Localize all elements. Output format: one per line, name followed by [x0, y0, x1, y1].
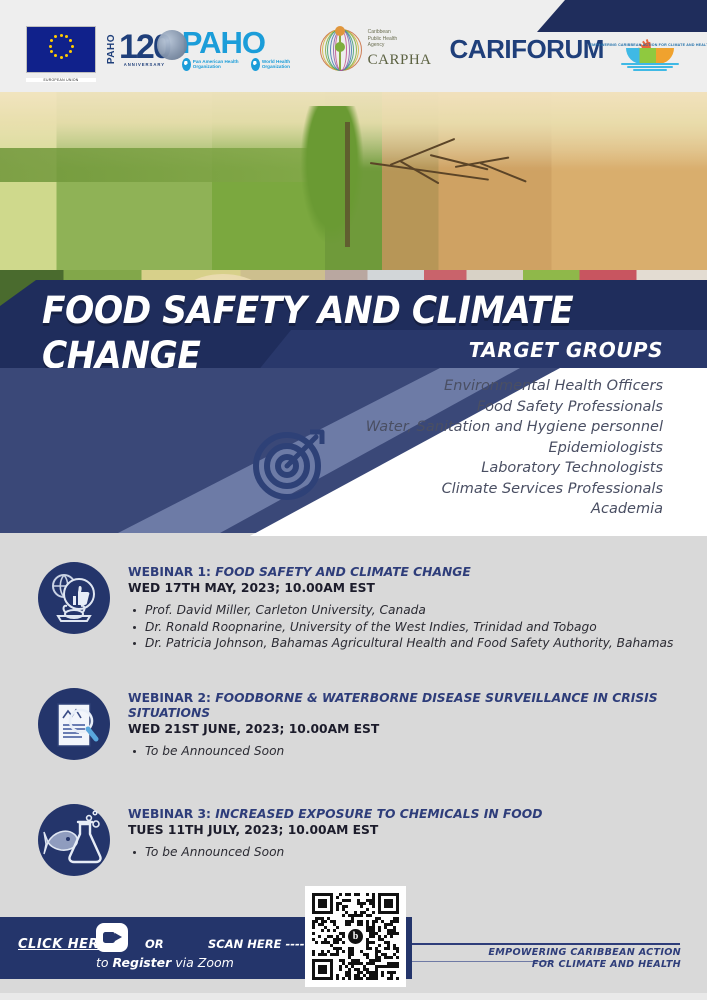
- webinar-3-speakers: To be Announced Soon: [128, 844, 678, 861]
- paho-org-text: Pan American Health Organization: [193, 59, 245, 70]
- webinar-3-label: WEBINAR 3:: [128, 807, 211, 821]
- water-waves-icon: [621, 63, 679, 73]
- hero-hedge: [0, 148, 330, 182]
- logo-carpha: Caribbean Public Health Agency CARPHA: [318, 26, 432, 72]
- target-groups-heading: TARGET GROUPS: [469, 338, 663, 362]
- footer-or-label: OR: [145, 937, 164, 951]
- paho-120-word: PAHO: [106, 34, 117, 64]
- logo-paho: PAHO Pan American Health Organization Wo…: [182, 28, 302, 71]
- document-magnifier-icon: [38, 688, 110, 760]
- footer: CLICK HERE OR SCAN HERE ----> to Registe…: [0, 905, 707, 1000]
- carpha-wordmark: CARPHA: [368, 52, 432, 69]
- footer-tagline: EMPOWERING CARIBBEAN ACTION FOR CLIMATE …: [488, 947, 681, 970]
- hero-landscape-image: [0, 92, 707, 270]
- webinar-1-date: WED 17TH MAY, 2023; 10.00AM EST: [128, 581, 678, 595]
- paho-seal-icon: [182, 58, 191, 71]
- logo-cariforum: CARIFORUM: [450, 34, 604, 65]
- globe-thumbsup-food-icon: [38, 562, 110, 634]
- webinar-3-title: INCREASED EXPOSURE TO CHEMICALS IN FOOD: [211, 807, 542, 821]
- tagline-line-2: FOR CLIMATE AND HEALTH: [488, 959, 681, 971]
- footer-divider-top: [412, 943, 680, 945]
- list-item: Food Safety Professionals: [233, 397, 663, 418]
- carpha-globe-icon: [318, 26, 364, 72]
- list-item: Prof. David Miller, Carleton University,…: [145, 602, 678, 619]
- list-item: Dr. Patricia Johnson, Bahamas Agricultur…: [145, 635, 678, 652]
- list-item: Water, Sanitation and Hygiene personnel: [233, 417, 663, 438]
- tagline-line-1: EMPOWERING CARIBBEAN ACTION: [488, 947, 681, 959]
- target-groups-section: TARGET GROUPS Environmental Health Offic…: [0, 330, 707, 545]
- ecach-caption: EMPOWERING CARIBBEAN ACTION FOR CLIMATE …: [590, 43, 707, 47]
- fish-flask-icon: [38, 804, 110, 876]
- list-item: Epidemiologists: [233, 438, 663, 459]
- webinar-1-heading: WEBINAR 1: FOOD SAFETY AND CLIMATE CHANG…: [128, 565, 678, 580]
- zoom-video-icon[interactable]: [96, 923, 128, 952]
- ecach-landscape-icon: [626, 48, 674, 64]
- webinar-item-2: WEBINAR 2: FOODBORNE & WATERBORNE DISEAS…: [38, 688, 678, 760]
- paho-120-number: 120: [119, 32, 170, 62]
- world-health-organization-mark: World Health Organization: [251, 58, 302, 71]
- list-item: Academia: [233, 499, 663, 520]
- logo-strip: EUROPEAN UNION PAHO 120 ANNIVERSARY PAHO: [0, 18, 707, 80]
- eu-caption: EUROPEAN UNION: [26, 78, 96, 82]
- eu-flag-icon: [26, 26, 96, 73]
- logo-european-union: EUROPEAN UNION: [26, 26, 96, 73]
- carpha-caption-1: Caribbean: [368, 29, 432, 36]
- webinar-3-heading: WEBINAR 3: INCREASED EXPOSURE TO CHEMICA…: [128, 807, 678, 822]
- webinar-2-date: WED 21ST JUNE, 2023; 10.00AM EST: [128, 722, 678, 736]
- click-here-link[interactable]: CLICK HERE: [18, 937, 108, 952]
- webinar-2-speakers: To be Announced Soon: [128, 743, 678, 760]
- who-seal-icon: [251, 58, 260, 71]
- webinar-1-title: FOOD SAFETY AND CLIMATE CHANGE: [211, 565, 471, 579]
- hero-dead-branch: [370, 132, 550, 212]
- logo-header-bar: EUROPEAN UNION PAHO 120 ANNIVERSARY PAHO: [0, 0, 707, 92]
- webinar-2-label: WEBINAR 2:: [128, 691, 211, 705]
- webinar-2-heading: WEBINAR 2: FOODBORNE & WATERBORNE DISEAS…: [128, 691, 678, 721]
- register-prefix: to: [96, 955, 113, 970]
- webinar-list: WEBINAR 1: FOOD SAFETY AND CLIMATE CHANG…: [0, 548, 707, 888]
- logo-ecach: EMPOWERING CARIBBEAN ACTION FOR CLIMATE …: [620, 23, 681, 75]
- hero-banner: FOOD SAFETY AND CLIMATE CHANGE WEBINAR S…: [0, 92, 707, 370]
- list-item: To be Announced Soon: [145, 743, 678, 760]
- list-item: Climate Services Professionals: [233, 479, 663, 500]
- poster-root: EUROPEAN UNION PAHO 120 ANNIVERSARY PAHO: [0, 0, 707, 1000]
- list-item: Environmental Health Officers: [233, 376, 663, 397]
- list-item: To be Announced Soon: [145, 844, 678, 861]
- register-word: Register: [113, 955, 172, 970]
- register-suffix: via Zoom: [171, 955, 234, 970]
- scan-here-label: SCAN HERE ---->: [208, 937, 314, 951]
- logo-paho-120: PAHO 120 ANNIVERSARY: [106, 32, 170, 67]
- hero-green-tree: [300, 106, 364, 246]
- carpha-caption-3: Agency: [368, 42, 432, 49]
- hero-tree-trunk: [345, 122, 350, 247]
- webinar-item-1: WEBINAR 1: FOOD SAFETY AND CLIMATE CHANG…: [38, 562, 678, 652]
- globe-icon: [157, 30, 187, 60]
- pan-american-health-organization-mark: Pan American Health Organization: [182, 58, 245, 71]
- webinar-3-date: TUES 11TH JULY, 2023; 10.00AM EST: [128, 823, 678, 837]
- list-item: Laboratory Technologists: [233, 458, 663, 479]
- target-groups-list: Environmental Health Officers Food Safet…: [233, 376, 663, 520]
- register-via-zoom-label: to Register via Zoom: [96, 955, 234, 970]
- webinar-1-label: WEBINAR 1:: [128, 565, 211, 579]
- footer-bottom-strip: [0, 993, 707, 1000]
- webinar-1-speakers: Prof. David Miller, Carleton University,…: [128, 602, 678, 652]
- webinar-item-3: WEBINAR 3: INCREASED EXPOSURE TO CHEMICA…: [38, 804, 678, 876]
- paho-wordmark: PAHO: [182, 28, 302, 57]
- qr-code-registration[interactable]: b: [305, 886, 406, 987]
- who-org-text: World Health Organization: [262, 59, 302, 70]
- list-item: Dr. Ronald Roopnarine, University of the…: [145, 619, 678, 636]
- carpha-caption-2: Public Health: [368, 36, 432, 43]
